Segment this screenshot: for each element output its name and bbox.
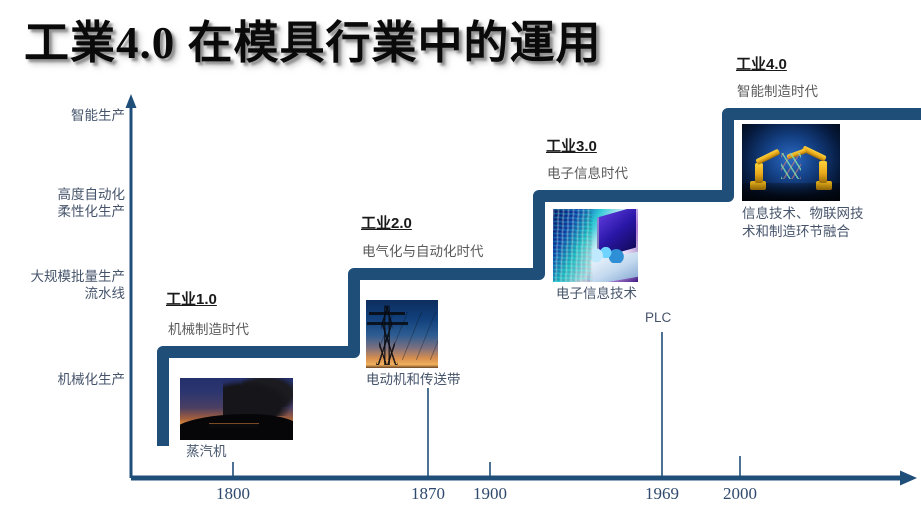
x-axis-tick-label-1870: 1870 xyxy=(398,484,458,504)
step-3-caption: 电子信息技术 xyxy=(556,285,637,303)
y-axis-label-mass-production: 大规模批量生产 流水线 xyxy=(0,268,125,302)
y-axis-label-mechanized-production: 机械化生产 xyxy=(0,371,125,388)
y-axis-label-line2: 流水线 xyxy=(0,285,125,302)
step-4-caption-line2: 术和制造环节融合 xyxy=(742,223,864,241)
slide-canvas: 工業4.0 在模具行業中的運用 智能生产 xyxy=(0,0,921,511)
power-pylon-photo xyxy=(366,300,438,368)
step-2-subtitle: 电气化与自动化时代 xyxy=(362,240,484,260)
step-4-title: 工业4.0 xyxy=(736,53,787,74)
step-1-caption: 蒸汽机 xyxy=(186,443,227,461)
industrial-robot-photo xyxy=(742,124,840,201)
x-axis-tick-label-1969: 1969 xyxy=(632,484,692,504)
y-axis-label-line2: 柔性化生产 xyxy=(0,203,125,220)
step-4-caption-line1: 信息技术、物联网技 xyxy=(742,205,864,223)
x-axis-arrowhead xyxy=(900,471,917,486)
x-axis-tick-label-1800: 1800 xyxy=(203,484,263,504)
step-1-title: 工业1.0 xyxy=(166,288,217,309)
step-4-caption: 信息技术、物联网技 术和制造环节融合 xyxy=(742,205,864,241)
step-3-caption-plc: PLC xyxy=(645,309,671,327)
y-axis-label-line1: 大规模批量生产 xyxy=(0,268,125,285)
x-axis-tick-label-2000: 2000 xyxy=(710,484,770,504)
electronics-information-photo xyxy=(553,209,638,282)
step-3-subtitle: 电子信息时代 xyxy=(547,162,628,182)
step-4-subtitle: 智能制造时代 xyxy=(737,80,818,100)
step-3-title: 工业3.0 xyxy=(546,135,597,156)
y-axis-arrowhead xyxy=(126,94,137,108)
step-2-caption: 电动机和传送带 xyxy=(366,371,461,389)
y-axis-label-high-automation: 高度自动化 柔性化生产 xyxy=(0,186,125,220)
step-1-subtitle: 机械制造时代 xyxy=(168,318,249,338)
page-title: 工業4.0 在模具行業中的運用 xyxy=(24,6,602,71)
x-axis-tick-label-1900: 1900 xyxy=(460,484,520,504)
y-axis-label-smart-production: 智能生产 xyxy=(0,107,125,124)
y-axis xyxy=(126,94,137,478)
x-axis-ticks xyxy=(233,332,740,477)
step-2-title: 工业2.0 xyxy=(361,212,412,233)
y-axis-label-line1: 高度自动化 xyxy=(0,186,125,203)
steam-locomotive-photo xyxy=(180,378,293,440)
